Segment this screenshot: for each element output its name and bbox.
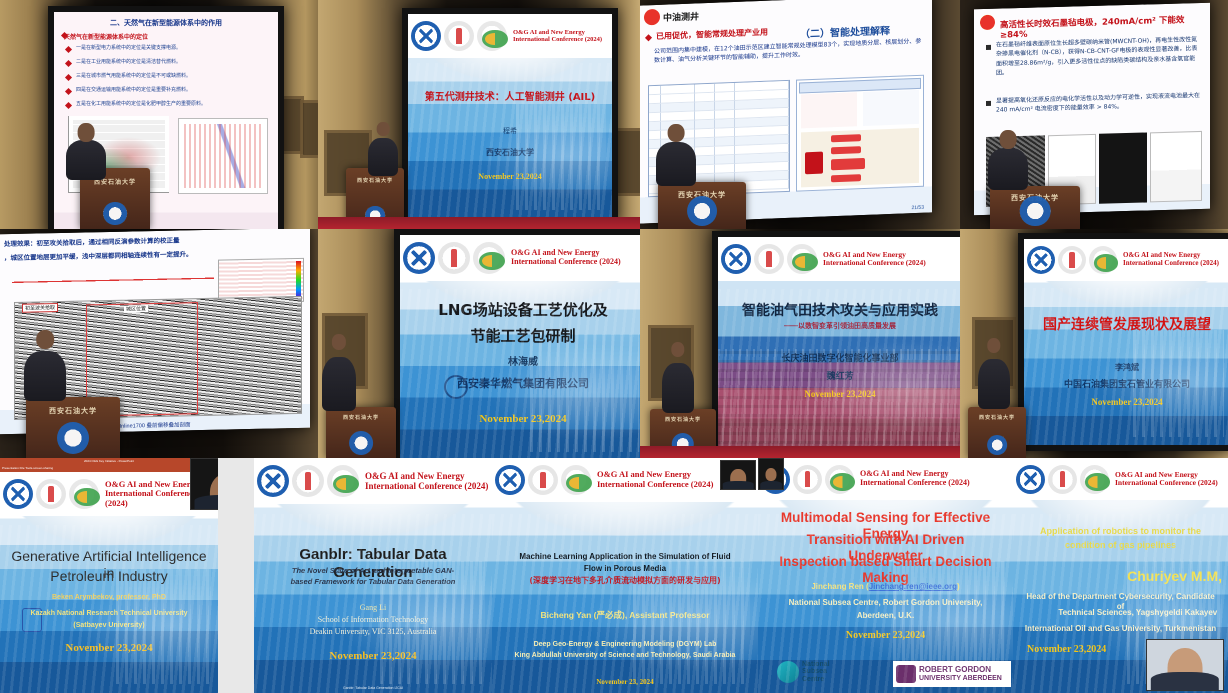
ogaienc-logo-icon (327, 465, 359, 497)
slide-author: Gang Li (266, 603, 480, 613)
conference-banner: O&G AI and New Energy International Conf… (492, 458, 758, 502)
slide-date: November 23,2024 (718, 389, 960, 399)
bullet-marker (645, 34, 652, 41)
nsc-label: National Subsea Centre (802, 661, 830, 683)
slide-author: 李鸿斌 (1034, 363, 1219, 373)
slide-title-line-2: Flow in Porous Media (503, 564, 748, 574)
podium-nameplate: 西安石油大学 (329, 414, 393, 421)
robert-gordon-university-logo: ROBERT GORDON UNIVERSITY ABERDEEN (893, 661, 1011, 687)
conference-banner: O&G AI and New Energy International Conf… (408, 14, 612, 58)
bullet-marker (65, 60, 72, 67)
slide-title-chinese: (深度学习在地下多孔介质流动模拟方面的研发与应用) (503, 576, 748, 586)
slide-author: Beken Arymbekov, professor, PhD (11, 594, 207, 603)
slide-surface: O&G AI and New Energy International Conf… (254, 458, 492, 693)
slide-affiliation-line-2: Aberdeen, U.K. (771, 611, 1001, 621)
bullet-marker (986, 45, 991, 50)
photo-cell-p9[interactable]: 2024 O&G Key Initiative - PowerPoint Pre… (0, 458, 218, 693)
petroleum-society-logo-icon (444, 21, 474, 51)
slide-surface: O&G AI and New Energy International Conf… (408, 14, 612, 218)
university-logo-icon (1027, 246, 1055, 274)
conference-banner: O&G AI and New Energy International Conf… (400, 235, 640, 281)
slide-date: November 23,2024 (0, 642, 218, 654)
slide-heading: 二、天然气在新型能源体系中的作用 (54, 18, 278, 28)
presenter-torso (723, 481, 754, 489)
conference-banner: O&G AI and New Energy International Conf… (0, 472, 218, 516)
slide-bullet-3: 三是在城市燃气用能系统中的定位是不可或缺燃料。 (76, 72, 266, 79)
conference-banner: O&G AI and New Energy International Conf… (758, 458, 1013, 500)
slide-date: November 23,2024 (758, 630, 1013, 641)
slide-author: Jinchang Ren (Jinchang.ren@ieee.org) (771, 582, 1001, 592)
podium: 西安石油大学 (326, 407, 396, 458)
speaker (978, 359, 1010, 409)
university-logo-icon (411, 21, 441, 51)
photo-cell-p12[interactable]: O&G AI and New Energy International Conf… (758, 458, 1013, 693)
logo-group (411, 21, 507, 51)
stage-apron (640, 446, 960, 458)
ogaienc-logo-icon (1089, 246, 1117, 274)
slide-author: 林海威 (412, 357, 633, 370)
logo-group (1016, 465, 1109, 494)
nsc-line-1: National (802, 661, 830, 668)
petroleum-society-logo-icon (1048, 465, 1077, 494)
slide-date: November 23, 2024 (492, 678, 758, 686)
photo-cell-p4[interactable]: 高活性长时效石墨毡电极，240mA/cm² 下能效≥84% 在石墨毡纤维表面原位… (960, 0, 1228, 229)
podium: 西安石油大学 (990, 186, 1080, 229)
university-logo-icon (403, 242, 435, 274)
photo-cell-p10[interactable]: O&G AI and New Energy International Conf… (254, 458, 492, 693)
presenter-webcam-tile[interactable] (1146, 639, 1224, 691)
slide-affiliation-line-1: School of Information Technology (266, 615, 480, 625)
petroleum-society-logo-icon (528, 465, 558, 495)
slide-affiliation: 中国石油集团宝石管业有限公司 (1034, 379, 1219, 390)
powerpoint-window-title: 2024 O&G Key Initiative - PowerPoint (0, 459, 218, 463)
ogaienc-logo-icon (1080, 465, 1109, 494)
slide-date: November 23,2024 (408, 172, 612, 181)
national-subsea-centre-logo: National Subsea Centre (774, 655, 866, 689)
author-suffix: ) (957, 582, 960, 591)
slide-heading: 处理效果：初至攻关拾取后，通过相同反演参数计算的校正量 (4, 232, 306, 248)
speaker (66, 140, 106, 180)
rgu-line-2: UNIVERSITY ABERDEEN (919, 675, 1002, 682)
photo-cell-p13[interactable]: O&G AI and New Energy International Conf… (1013, 458, 1228, 693)
petroleum-society-logo-icon (754, 244, 784, 274)
logo-group (495, 465, 591, 495)
slide-title-line-1: LNG场站设备工艺优化及 (410, 301, 636, 319)
slide-affiliation-line-1: National Subsea Centre, Robert Gordon Un… (771, 598, 1001, 608)
speaker (322, 357, 356, 411)
university-logo-icon (495, 465, 525, 495)
petroleum-society-logo-icon (1058, 246, 1086, 274)
presenter-torso (1151, 672, 1219, 690)
nsc-mark-icon (777, 661, 799, 683)
rgu-crest-icon (896, 665, 916, 683)
campus-building-watermark (530, 334, 638, 452)
slide-author: 程希 (418, 128, 602, 137)
photo-cell-p7[interactable]: O&G AI and New Energy International Conf… (640, 229, 960, 458)
author-email-link[interactable]: Jinchang.ren@ieee.org (869, 582, 957, 591)
projection-screen-p7: O&G AI and New Energy International Conf… (712, 231, 960, 458)
slide-title: 国产连续管发展现状及展望 (1032, 317, 1222, 334)
ogaienc-logo-icon (787, 244, 817, 274)
presenter-face (765, 468, 776, 481)
presenter-torso (195, 495, 219, 509)
slide-affiliation-line-2: Technical Sciences, Yagshygeldi Kakayev (1024, 608, 1218, 618)
slide-title-line-1: Application of robotics to monitor the (1022, 526, 1220, 537)
petroleum-society-logo-icon (36, 479, 66, 509)
podium: 西安石油大学 (968, 407, 1026, 458)
photo-cell-p3[interactable]: 中油测井 已用促优，智能常规处理产业用 （二）智能处理解释 公司范围内集中建模，… (640, 0, 960, 229)
conference-banner: O&G AI and New Energy International Conf… (1024, 239, 1228, 281)
logo-group (1027, 246, 1117, 274)
university-logo-icon (3, 479, 33, 509)
slide-surface: O&G AI and New Energy International Conf… (0, 472, 218, 693)
slide-affiliation: 西安秦华燃气集团有限公司 (412, 378, 633, 392)
slide-bullet-1: 在石墨毡纤维表面原位生长超多壁碳纳米管(MWCNT-OH)，再电生性改性氮杂掺黑… (996, 35, 1202, 78)
powerpoint-title-bar: 2024 O&G Key Initiative - PowerPoint Pre… (0, 458, 218, 472)
presenter-torso (760, 481, 782, 489)
projection-screen-p6: O&G AI and New Energy International Conf… (394, 229, 640, 458)
slide-body: 公司范围内集中建模，在12个油田示范区建立智能常规处理模型83个，实现地质分层、… (654, 37, 922, 65)
speaker (368, 138, 398, 176)
presenter-webcam-tile[interactable] (190, 458, 218, 510)
slide-date: November 23,2024 (400, 413, 640, 425)
presenter-webcam-tile[interactable] (720, 460, 756, 490)
door-panel (300, 100, 318, 158)
slide-bullet-5: 五是在化工用能系统中的定位是化肥甲醇生产的重要原料。 (76, 100, 266, 107)
slide-title-line-1: Machine Learning Application in the Simu… (503, 552, 748, 562)
rgu-label: ROBERT GORDON UNIVERSITY ABERDEEN (919, 666, 1002, 683)
nsc-line-3: Centre (802, 676, 824, 683)
slide-author: Churiyev M.M, (1029, 568, 1223, 585)
conference-name: O&G AI and New Energy International Conf… (819, 251, 959, 268)
bullet-marker (65, 74, 72, 81)
slide-title-line-2: Petroleum Industry (9, 568, 210, 585)
conference-name: O&G AI and New Energy International Conf… (1111, 471, 1225, 488)
podium-nameplate: 西安石油大学 (970, 414, 1023, 421)
conference-name: O&G AI and New Energy International Conf… (507, 249, 640, 267)
podium: 西安石油大学 (26, 397, 120, 458)
bullet-marker (65, 88, 72, 95)
photo-cell-p11[interactable]: O&G AI and New Energy International Conf… (492, 458, 758, 693)
slide-title-line-2: 节能工艺包研制 (410, 327, 636, 345)
podium-nameplate: 西安石油大学 (30, 406, 117, 416)
collage-gutter (218, 458, 254, 693)
conference-banner: O&G AI and New Energy International Conf… (1013, 458, 1228, 500)
slide-affiliation-line-2: King Abdullah University of Science and … (505, 652, 744, 661)
slide-chart-right (178, 118, 268, 194)
projection-screen-p8: O&G AI and New Energy International Conf… (1018, 233, 1228, 451)
slide-affiliation-line-2: Deakin University, VIC 3125, Australia (266, 627, 480, 637)
slide-title-line-2: condition of gas pipelines (1022, 540, 1220, 551)
cnpc-logo-icon (644, 9, 660, 26)
slide-affiliation-line-2: (Satbayev University) (11, 622, 207, 631)
photo-cell-p2[interactable]: O&G AI and New Energy International Conf… (318, 0, 640, 229)
conference-banner: O&G AI and New Energy International Conf… (254, 458, 492, 504)
cnpc-logo-row: 中油测井 (644, 7, 699, 25)
presenter-webcam-tile[interactable] (758, 458, 784, 490)
podium: 西安石油大学 (658, 182, 746, 229)
slide-surface: O&G AI and New Energy International Conf… (718, 237, 960, 453)
slide-title: 第五代测井技术：人工智能测井 (AIL) (416, 92, 604, 104)
slide-subtitle: ——以数智变革引领油田高质量发展 (730, 323, 950, 332)
slide-affiliation: 长庆油田数字化智能化事业部 (730, 353, 950, 364)
bullet-marker (65, 102, 72, 109)
conference-name: O&G AI and New Energy International Conf… (1119, 252, 1227, 268)
speaker (656, 142, 696, 186)
cnpc-logo-icon (980, 15, 995, 30)
petroleum-society-logo-icon (793, 465, 822, 494)
photo-collage: 二、天然气在新型能源体系中的作用 天然气在新型能源体系中的定位 一是在新型电力系… (0, 0, 1228, 693)
powerpoint-menu-hint: Presentation File Tools-screen-sharing (2, 466, 53, 470)
speaker (24, 351, 66, 401)
podium-nameplate: 西安石油大学 (662, 190, 743, 200)
ogaienc-logo-icon (477, 21, 507, 51)
logo-group (721, 244, 817, 274)
podium-nameplate: 西安石油大学 (348, 177, 401, 184)
slide-affiliation-line-1: Kazakh National Research Technical Unive… (11, 610, 207, 619)
slide-surface: O&G AI and New Energy International Conf… (1024, 239, 1228, 445)
slide-footer: Ganblr: Tabular Data Generation IJCAI (254, 686, 492, 690)
petroleum-society-logo-icon (438, 242, 470, 274)
conference-name: O&G AI and New Energy International Conf… (509, 29, 609, 44)
nsc-line-2: Subsea (802, 668, 827, 675)
slide-subheading: 天然气在新型能源体系中的定位 (64, 32, 278, 41)
logo-group (257, 465, 359, 497)
slide-bullet-1: 一是在新型电力系统中的定位是关键支撑电源。 (76, 44, 266, 51)
rgu-line-1: ROBERT GORDON (919, 665, 991, 674)
photo-cell-p1[interactable]: 二、天然气在新型能源体系中的作用 天然气在新型能源体系中的定位 一是在新型电力系… (0, 0, 318, 229)
slide-affiliation-line-1: Deep Geo-Energy & Engineering Modeling (… (505, 641, 744, 650)
amplitude-curve (12, 264, 214, 298)
ogaienc-logo-icon (69, 479, 99, 509)
speaker (662, 363, 694, 413)
speaker (988, 148, 1028, 190)
slide-affiliation: 西安石油大学 (418, 148, 602, 158)
slide-heading-left: 已用促优，智能常规处理产业用 (656, 27, 768, 42)
petroleum-society-logo-icon (292, 465, 324, 497)
bullet-marker (986, 101, 991, 106)
slide-bullet-2: 显著提高氧化还原反应的电化学活性以及动力学可逆性，实现液流电池最大在240 mA… (996, 91, 1202, 115)
slide-subtitle-line-2: based Framework for Tabular Data Generat… (266, 577, 480, 586)
author-name: Jinchang Ren ( (811, 582, 868, 591)
slide-date: November 23,2024 (254, 650, 492, 662)
region-label: 城区位置 (124, 305, 148, 313)
slide-surface: O&G AI and New Energy International Conf… (400, 235, 640, 458)
university-logo-icon (721, 244, 751, 274)
projection-screen-p2: O&G AI and New Energy International Conf… (402, 8, 618, 224)
inset-label: 初至波关拾取 (22, 303, 58, 313)
cnpc-logo-text: 中油测井 (663, 9, 699, 23)
ogaienc-logo-icon (561, 465, 591, 495)
conference-name: O&G AI and New Energy International Conf… (856, 470, 1010, 488)
slide-date: November 23,2024 (1024, 397, 1228, 407)
bullet-marker (65, 46, 72, 53)
logo-group (3, 479, 99, 509)
slide-title: 智能油气田技术攻关与应用实践 (728, 303, 953, 320)
slide-surface: O&G AI and New Energy International Conf… (492, 458, 758, 693)
podium-nameplate: 西安石油大学 (653, 416, 714, 423)
slide-author: Bicheng Yan (严必成), Assistant Professor (505, 610, 744, 621)
conference-banner: O&G AI and New Energy International Conf… (718, 237, 960, 281)
stage-apron (318, 217, 640, 229)
logo-group (403, 242, 505, 274)
slide-subtitle-line-1: The Novel State of Art and Interpretable… (266, 566, 480, 575)
ogaienc-logo-icon (825, 465, 854, 494)
slide-affiliation-line-3: International Oil and Gas University, Tu… (1024, 624, 1218, 634)
photo-cell-p5[interactable]: 处理效果：初至攻关拾取后，通过相同反演参数计算的校正量 ，城区位置地层更加平缓，… (0, 229, 318, 458)
podium-nameplate: 西安石油大学 (994, 193, 1077, 203)
slide-bullet-4: 四是在交通运输用能系统中的定位是重要补充燃料。 (76, 86, 266, 93)
photo-cell-p6[interactable]: O&G AI and New Energy International Conf… (318, 229, 640, 458)
university-logo-icon (1016, 465, 1045, 494)
slide-author: 魏红芳 (730, 371, 950, 382)
slide-page-number: 21/53 (911, 205, 924, 211)
conference-name: O&G AI and New Energy International Conf… (361, 471, 489, 491)
slide-bullet-2: 二是在工业用能系统中的定位是清洁替代燃料。 (76, 58, 266, 65)
slide-surface: O&G AI and New Energy International Conf… (758, 458, 1013, 693)
university-logo-icon (257, 465, 289, 497)
photo-cell-p8[interactable]: O&G AI and New Energy International Conf… (960, 229, 1228, 458)
flow-diagram-panel (796, 75, 924, 192)
ogaienc-logo-icon (473, 242, 505, 274)
